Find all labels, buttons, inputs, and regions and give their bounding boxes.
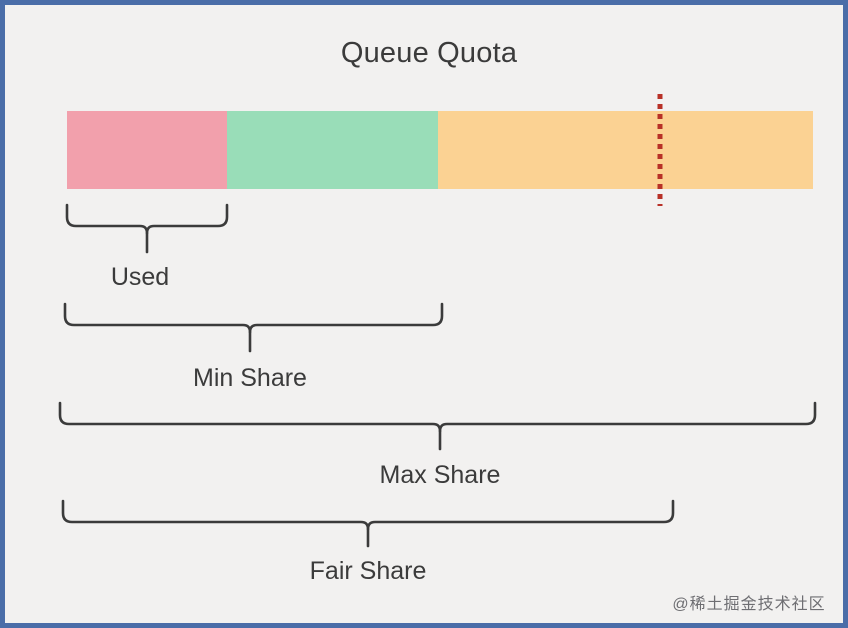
brace-label-min-share: Min Share	[193, 364, 307, 393]
bar-segment-max-remaining	[438, 111, 813, 189]
diagram-canvas: Queue Quota Used M	[0, 0, 848, 628]
brace-max-share	[60, 403, 815, 449]
diagram-graphics	[5, 5, 848, 628]
watermark: @稀土掘金技术社区	[672, 590, 825, 614]
bar-segment-min-remaining	[227, 111, 438, 189]
brace-label-max-share: Max Share	[380, 461, 501, 490]
bar-segment-used	[67, 111, 227, 189]
brace-label-used: Used	[111, 263, 169, 292]
brace-min-share	[65, 304, 442, 351]
brace-used	[67, 205, 227, 252]
quota-bar	[67, 111, 813, 189]
brace-fair-share	[63, 501, 673, 546]
brace-label-fair-share: Fair Share	[310, 557, 427, 586]
